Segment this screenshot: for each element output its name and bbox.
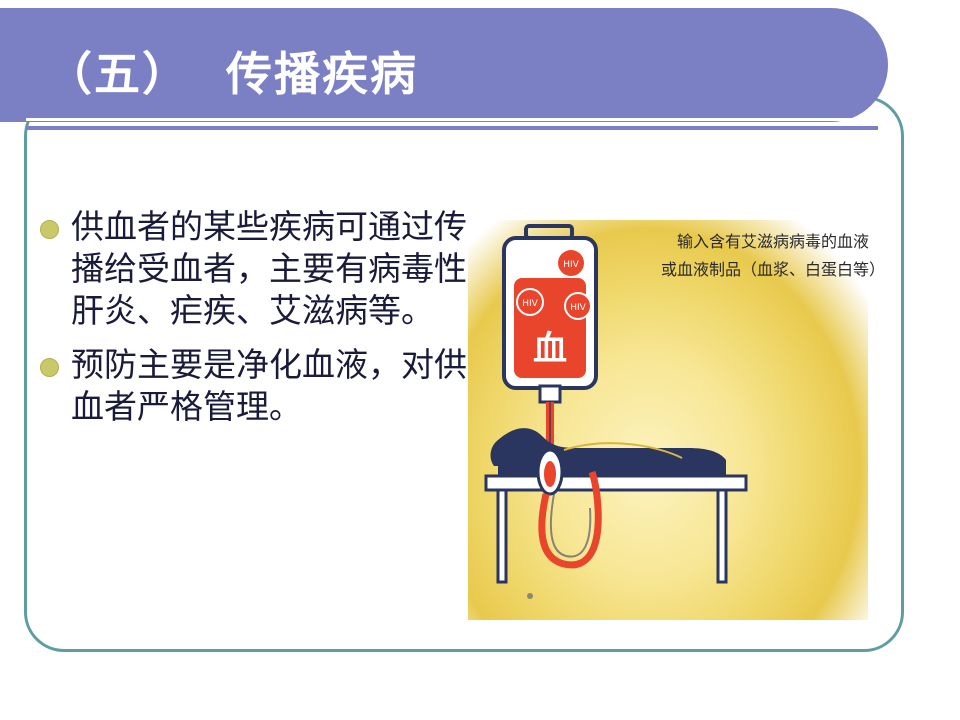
transfusion-illustration-svg: HIV HIV HIV 血	[468, 190, 888, 620]
tube-outline	[551, 494, 590, 557]
table-leg-left	[498, 490, 506, 582]
bullet-list: 供血者的某些疾病可通过传播给受血者，主要有病毒性肝炎、疟疾、艾滋病等。 预防主要…	[40, 206, 470, 440]
slide: （五） 传播疾病 供血者的某些疾病可通过传播给受血者，主要有病毒性肝炎、疟疾、艾…	[0, 0, 960, 720]
title-underline-white	[26, 118, 878, 121]
title-banner: （五） 传播疾病	[0, 8, 888, 122]
injection-blood	[544, 461, 556, 487]
blood-bag-character: 血	[533, 329, 567, 369]
bullet-dot-icon	[40, 358, 59, 377]
hiv-virus-label: HIV	[563, 260, 579, 270]
patient-body-silhouette	[498, 428, 726, 476]
bullet-dot-icon	[40, 220, 59, 239]
patient-table-top	[486, 476, 746, 490]
bullet-text: 预防主要是净化血液，对供血者严格管理。	[71, 344, 470, 428]
illustration: 输入含有艾滋病病毒的血液 或血液制品（血浆、白蛋白等） HIV HIV HIV …	[468, 190, 888, 620]
bullet-text: 供血者的某些疾病可通过传播给受血者，主要有病毒性肝炎、疟疾、艾滋病等。	[71, 206, 470, 332]
hiv-virus-label: HIV	[570, 303, 586, 313]
floor-dot	[527, 593, 533, 599]
table-leg-right	[718, 490, 726, 582]
list-item: 预防主要是净化血液，对供血者严格管理。	[40, 344, 470, 428]
hiv-virus-label: HIV	[522, 299, 538, 309]
blood-bag-neck	[540, 386, 560, 402]
list-item: 供血者的某些疾病可通过传播给受血者，主要有病毒性肝炎、疟疾、艾滋病等。	[40, 206, 470, 332]
title-underline-purple	[26, 126, 878, 130]
page-title: （五） 传播疾病	[46, 38, 418, 104]
